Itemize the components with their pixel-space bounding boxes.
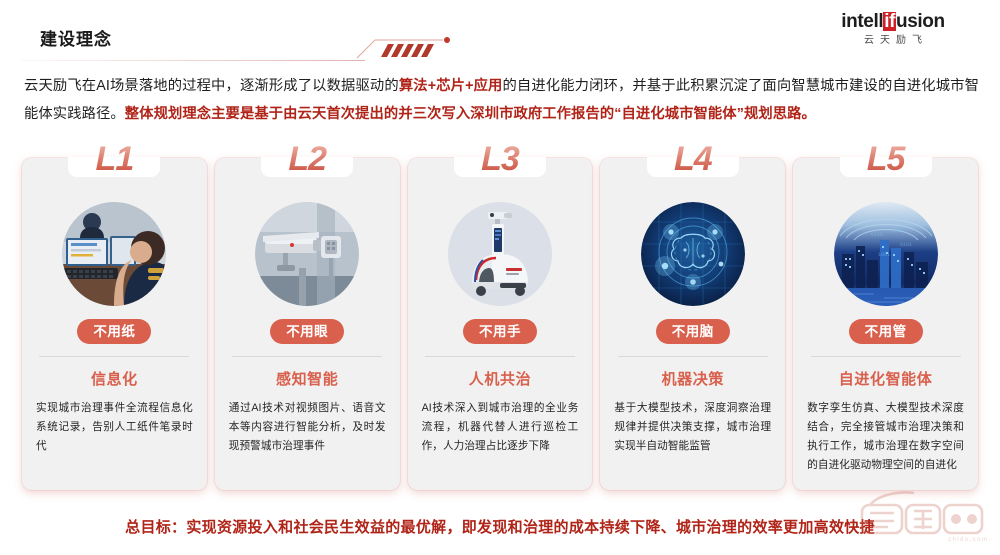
level-label: L4 [600,142,785,176]
card-separator [811,356,961,357]
card-badge: 不用管 [849,319,923,344]
svg-text:1001: 1001 [878,252,890,258]
card-badge: 不用脑 [656,319,730,344]
intro-paragraph: 云天励飞在AI场景落地的过程中，逐渐形成了以数据驱动的算法+芯片+应用的自进化能… [24,72,979,128]
card-description: 实现城市治理事件全流程信息化系统记录，告别人工纸件笔录时代 [36,399,193,456]
level-card-l2[interactable]: L2 [215,158,400,490]
logo-word-after: usion [896,11,945,32]
overall-goal-statement: 总目标：实现资源投入和社会民生效益的最优解，即发现和治理的成本持续下降、城市治理… [0,516,1000,537]
level-card-l1[interactable]: L1 [22,158,207,490]
card-description: AI技术深入到城市治理的全业务流程，机器代替人进行巡检工作，人力治理占比逐步下降 [422,399,579,456]
svg-text:1011: 1011 [892,228,904,234]
logo-chinese-name: 云天励飞 [798,36,988,46]
level-label: L2 [215,142,400,176]
logo-if-box: if [883,12,896,31]
diagonal-stripes-icon [355,32,455,60]
card-description: 基于大模型技术，深度洞察治理规律并提供决策支撑，城市治理实现半自动智能监管 [614,399,771,456]
logo-wordmark: intellifusion [798,12,988,31]
ai-brain-photo [641,202,745,306]
card-separator [425,356,575,357]
slide-header: 建设理念 intellifusion 云天励飞 [0,0,1000,62]
level-label: L1 [22,142,207,176]
maturity-level-card-list: L1 [22,158,978,490]
level-card-l4[interactable]: L4 [600,158,785,490]
intellifusion-logo: intellifusion 云天励飞 [798,12,988,46]
intro-highlight-1: 算法+芯片+应用 [399,78,503,94]
level-label: L5 [793,142,978,176]
page-title: 建设理念 [40,31,112,48]
header-divider-line [20,60,365,61]
surveillance-camera-photo [255,202,359,306]
card-badge: 不用手 [463,319,537,344]
slide-root: 建设理念 intellifusion 云天励飞 云天励飞在 [0,0,1000,555]
card-separator [618,356,768,357]
level-label: L3 [408,142,593,176]
level-card-l3[interactable]: L3 [408,158,593,490]
card-separator [39,356,189,357]
card-title: 机器决策 [600,368,785,389]
intro-highlight-2: 整体规划理念主要是基于由云天首次提出的并三次写入深圳市政府工作报告的“自进化城市… [125,106,816,122]
officer-at-computer-photo [62,202,166,306]
level-card-l5[interactable]: L5 [793,158,978,490]
digital-twin-city-photo: 0110 1011 1001 0101 [834,202,938,306]
card-description: 数字孪生仿真、大模型技术深度结合，完全接管城市治理决策和执行工作，城市治理在数字… [807,399,964,475]
logo-word-before: intell [841,11,883,32]
svg-text:zhidx.com: zhidx.com [948,537,989,543]
card-title: 信息化 [22,368,207,389]
card-title: 人机共治 [408,368,593,389]
card-description: 通过AI技术对视频图片、语音文本等内容进行智能分析，及时发现预警城市治理事件 [229,399,386,456]
svg-text:0101: 0101 [900,242,912,248]
card-separator [232,356,382,357]
card-badge: 不用眼 [270,319,344,344]
card-badge: 不用纸 [77,319,151,344]
svg-text:0110: 0110 [871,232,883,238]
card-title: 感知智能 [215,368,400,389]
patrol-robot-photo [448,202,552,306]
intro-segment-1: 云天励飞在AI场景落地的过程中，逐渐形成了以数据驱动的 [24,78,399,94]
card-title: 自进化智能体 [793,368,978,389]
